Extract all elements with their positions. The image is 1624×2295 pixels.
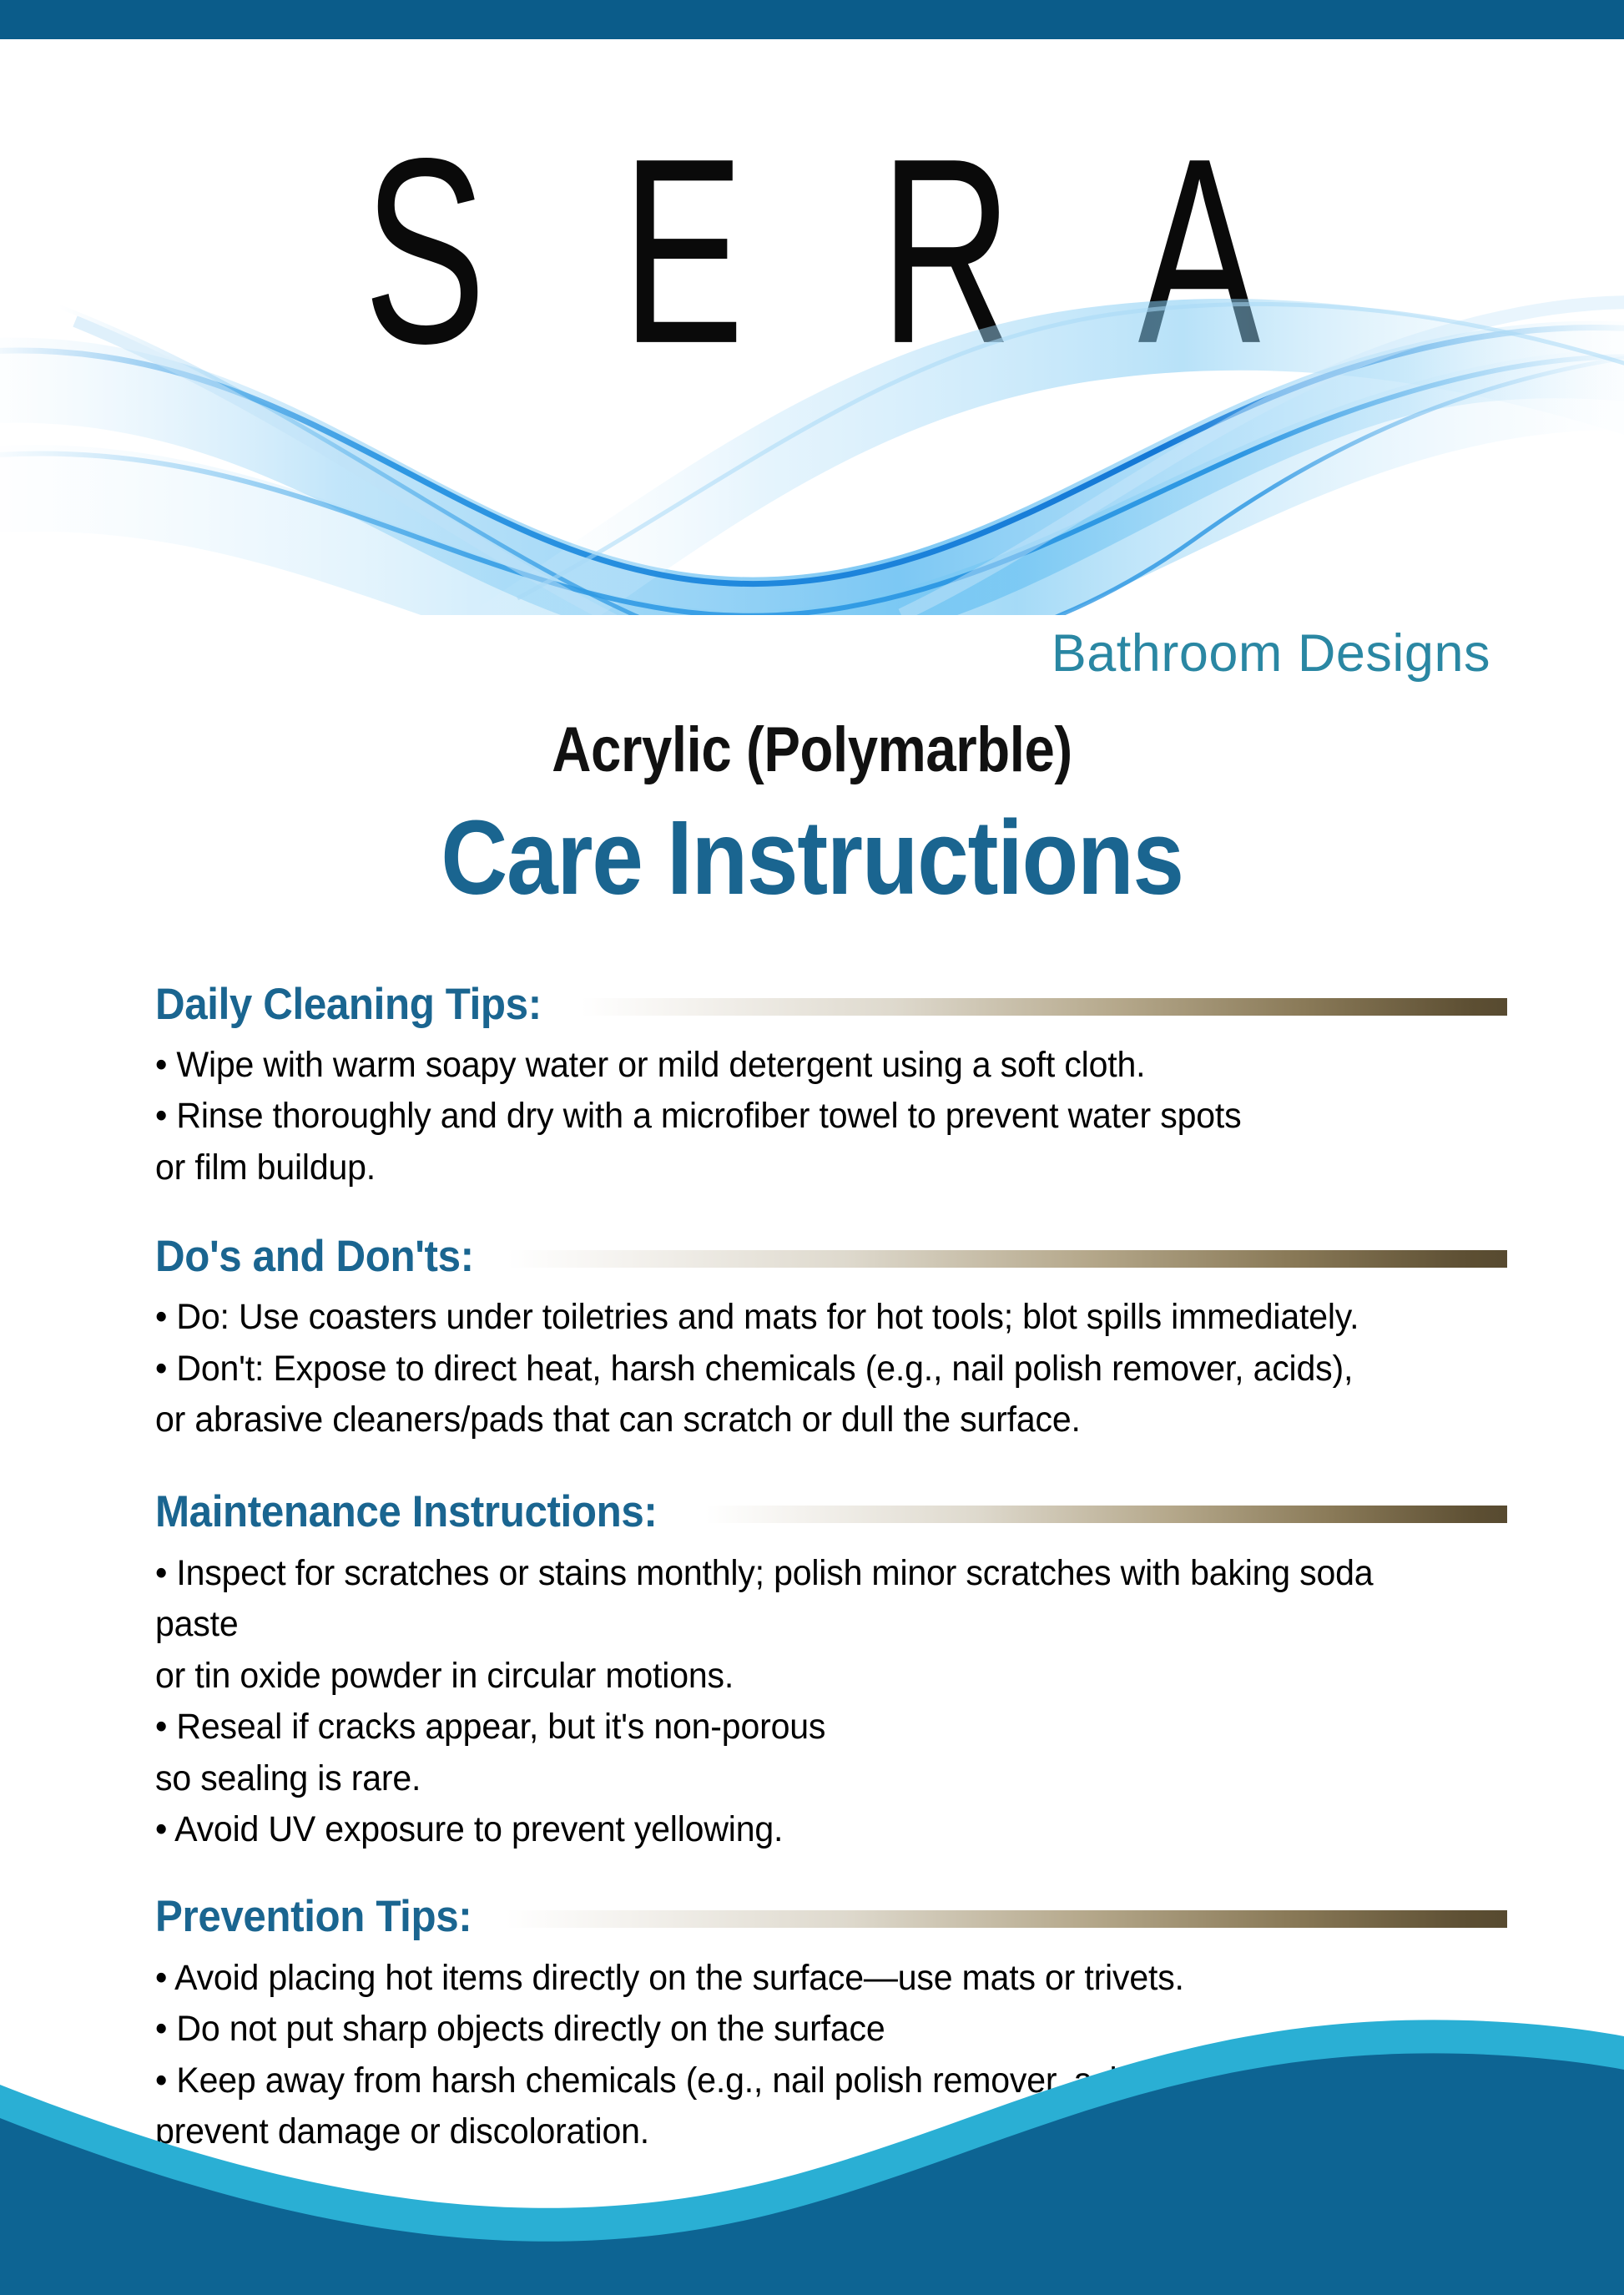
section-divider-rule (581, 998, 1507, 1016)
section-divider-rule (506, 1910, 1507, 1928)
section-title: Do's and Don'ts: (155, 1231, 474, 1282)
care-instructions-poster: S E R A (0, 0, 1624, 2295)
section-maintenance-instructions: Maintenance Instructions: • Inspect for … (155, 1486, 1507, 1856)
top-accent-bar (0, 0, 1624, 39)
list-item: • Avoid UV exposure to prevent yellowing… (155, 1804, 1446, 1855)
section-dos-and-donts: Do's and Don'ts: • Do: Use coasters unde… (155, 1230, 1507, 1445)
section-divider-rule (705, 1506, 1507, 1523)
brand-tagline: Bathroom Designs (1052, 623, 1490, 683)
section-title: Daily Cleaning Tips: (155, 979, 542, 1030)
list-item: • Don't: Expose to direct heat, harsh ch… (155, 1344, 1446, 1446)
bullet-list: • Do: Use coasters under toiletries and … (155, 1292, 1507, 1445)
footer-wave-graphic (0, 2020, 1624, 2295)
section-title: Maintenance Instructions: (155, 1486, 657, 1537)
bullet-list: • Wipe with warm soapy water or mild det… (155, 1040, 1507, 1193)
section-header: Prevention Tips: (155, 1891, 1507, 1943)
list-item: • Reseal if cracks appear, but it's non-… (155, 1702, 1446, 1804)
sections-container: Daily Cleaning Tips: • Wipe with warm so… (155, 978, 1507, 2158)
section-daily-cleaning-tips: Daily Cleaning Tips: • Wipe with warm so… (155, 978, 1507, 1193)
list-item: • Avoid placing hot items directly on th… (155, 1953, 1446, 2004)
bullet-list: • Inspect for scratches or stains monthl… (155, 1548, 1507, 1856)
section-header: Daily Cleaning Tips: (155, 978, 1507, 1030)
page-title: Care Instructions (98, 797, 1526, 918)
list-item: • Wipe with warm soapy water or mild det… (155, 1040, 1446, 1091)
section-header: Maintenance Instructions: (155, 1486, 1507, 1538)
list-item: • Rinse thoroughly and dry with a microf… (155, 1091, 1446, 1193)
list-item: • Inspect for scratches or stains monthl… (155, 1548, 1446, 1702)
section-header: Do's and Don'ts: (155, 1230, 1507, 1282)
section-title: Prevention Tips: (155, 1891, 472, 1942)
brand-header: S E R A (0, 39, 1624, 715)
product-subtitle: Acrylic (Polymarble) (113, 714, 1511, 786)
brand-logo-text: S E R A (146, 119, 1478, 382)
list-item: • Do: Use coasters under toiletries and … (155, 1292, 1446, 1343)
section-divider-rule (507, 1250, 1507, 1268)
